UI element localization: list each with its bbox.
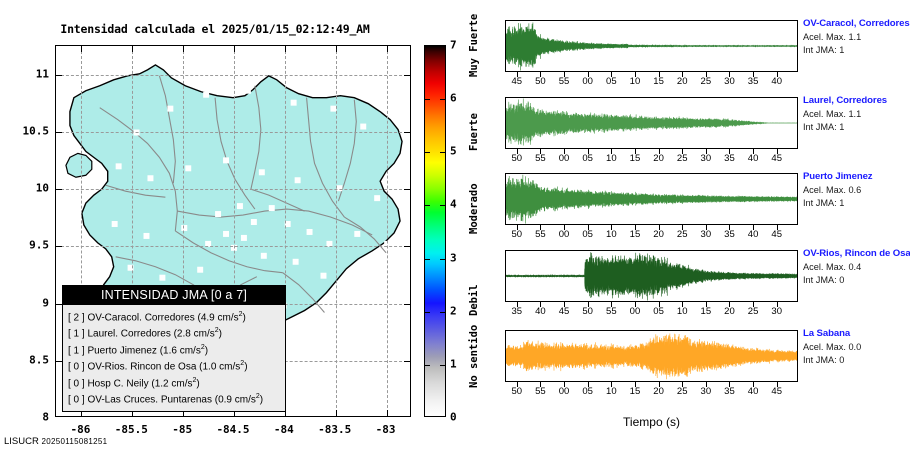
- seismogram-tick-label: 25: [748, 306, 759, 317]
- seismogram-tick-label: 00: [630, 306, 641, 317]
- seismogram-tick-label: 25: [677, 229, 688, 240]
- map-ytick-label: 10.5: [11, 124, 49, 137]
- seismogram-tick-label: 00: [559, 386, 570, 397]
- legend-close-paren: ): [205, 345, 208, 356]
- seismogram-tick-label: 25: [677, 386, 688, 397]
- map-ytick: [404, 361, 410, 362]
- legend-close-paren: ): [243, 312, 246, 323]
- seismogram-tick-label: 05: [582, 386, 593, 397]
- intensity-legend: INTENSIDAD JMA [0 a 7] [ 2 ] OV-Caracol.…: [62, 285, 286, 412]
- seismogram-tick-label: 35: [724, 386, 735, 397]
- seismogram-tick-label: 40: [748, 386, 759, 397]
- seismogram-tick-label: 50: [582, 306, 593, 317]
- map-xtick: [387, 46, 388, 52]
- map-xtick-label: -86: [70, 423, 90, 436]
- int-jma-value: Int JMA: 1: [803, 122, 910, 132]
- seismogram-tick-label: 55: [535, 386, 546, 397]
- seismogram-tick-label: 30: [701, 386, 712, 397]
- colorbar-tick: [425, 259, 430, 260]
- seismogram-tick-label: 10: [606, 386, 617, 397]
- legend-level: [ 1 ]: [68, 345, 87, 356]
- map-ytick: [56, 246, 62, 247]
- int-jma-value: Int JMA: 1: [803, 45, 910, 55]
- colorbar-tick: [440, 259, 445, 260]
- colorbar-tick-label: 7: [450, 39, 457, 52]
- seismogram-tick-label: 15: [701, 306, 712, 317]
- map-xtick-label: -84.5: [216, 423, 249, 436]
- seismogram-tick-label: 45: [559, 306, 570, 317]
- seismogram-tick-label: 30: [701, 229, 712, 240]
- int-jma-value: Int JMA: 0: [803, 355, 910, 365]
- seismogram-tick-label: 25: [677, 153, 688, 164]
- map-ytick: [404, 132, 410, 133]
- map-ytick: [56, 132, 62, 133]
- colorbar-tick: [425, 205, 430, 206]
- seismogram-info-1: OV-Caracol, CorredoresAcel. Max. 1.1Int …: [803, 18, 910, 55]
- legend-station: Hosp C. Neily (1.2 cm/s: [87, 378, 192, 389]
- legend-close-paren: ): [260, 395, 263, 406]
- seismogram-trace-2[interactable]: [505, 97, 798, 149]
- map-ytick-label: 8: [11, 411, 49, 424]
- seismogram-tick-label: 20: [724, 306, 735, 317]
- seismogram-tick-label: 55: [559, 76, 570, 87]
- colorbar-tick: [440, 152, 445, 153]
- colorbar-category-label: Moderado: [468, 183, 480, 234]
- seismogram-tick-label: 05: [653, 306, 664, 317]
- map-ytick-label: 9.5: [11, 239, 49, 252]
- seismogram-xaxis-label: Tiempo (s): [505, 415, 798, 429]
- intensity-legend-list: [ 2 ] OV-Caracol. Corredores (4.9 cm/s2)…: [63, 305, 285, 411]
- accel-max-value: Acel. Max. 1.1: [803, 109, 910, 119]
- map-ytick: [404, 304, 410, 305]
- legend-close-paren: ): [244, 362, 247, 373]
- accel-max-value: Acel. Max. 0.4: [803, 262, 910, 272]
- legend-level: [ 0 ]: [68, 378, 87, 389]
- colorbar-tick-label: 1: [450, 357, 457, 370]
- colorbar-tick: [425, 152, 430, 153]
- legend-row: [ 2 ] OV-Caracol. Corredores (4.9 cm/s2): [68, 308, 280, 325]
- map-xtick: [336, 410, 337, 416]
- seismogram-tick-label: 55: [535, 229, 546, 240]
- colorbar-tick-label: 2: [450, 304, 457, 317]
- footer-agency: LISUCR: [4, 436, 39, 447]
- seismogram-tick-label: 35: [724, 229, 735, 240]
- map-xtick: [183, 46, 184, 52]
- map-gridline-horizontal: [56, 75, 411, 76]
- colorbar-tick: [440, 205, 445, 206]
- footer-credit: LISUCR 20250115081251: [4, 436, 107, 447]
- colorbar-tick-label: 0: [450, 411, 457, 424]
- legend-station: OV-Las Cruces. Puntarenas (0.9 cm/s: [87, 395, 255, 406]
- seismogram-tick-label: 50: [512, 386, 523, 397]
- int-jma-value: Int JMA: 0: [803, 275, 910, 285]
- seismogram-tick-label: 15: [630, 153, 641, 164]
- seismogram-tick-label: 10: [677, 306, 688, 317]
- map-xtick: [387, 410, 388, 416]
- seismogram-tick-label: 50: [512, 229, 523, 240]
- seismogram-tick-label: 35: [724, 153, 735, 164]
- colorbar-tick: [440, 365, 445, 366]
- map-ytick-label: 8.5: [11, 353, 49, 366]
- legend-level: [ 0 ]: [68, 395, 87, 406]
- legend-station: OV-Rios. Rincon de Osa (1.0 cm/s: [87, 362, 240, 373]
- map-xtick: [81, 46, 82, 52]
- footer-timestamp: 20250115081251: [41, 437, 107, 446]
- accel-max-value: Acel. Max. 0.6: [803, 185, 910, 195]
- map-xtick-label: -84: [274, 423, 294, 436]
- map-gridline-horizontal: [56, 132, 411, 133]
- legend-row: [ 0 ] Hosp C. Neily (1.2 cm/s2): [68, 374, 280, 391]
- seismogram-tick-label: 15: [630, 229, 641, 240]
- seismogram-tick-label: 50: [535, 76, 546, 87]
- seismogram-tick-label: 55: [535, 153, 546, 164]
- seismogram-xaxis-3: 505500051015202530354045: [505, 225, 798, 241]
- map-xtick-label: -83: [376, 423, 396, 436]
- seismogram-tick-label: 45: [771, 153, 782, 164]
- colorbar-category-label: Fuerte: [468, 113, 480, 151]
- seismogram-tick-label: 40: [771, 76, 782, 87]
- map-ytick: [404, 189, 410, 190]
- colorbar-tick: [440, 312, 445, 313]
- colorbar-tick-label: 6: [450, 92, 457, 105]
- map-ytick: [56, 189, 62, 190]
- legend-row: [ 1 ] Laurel. Corredores (2.8 cm/s2): [68, 324, 280, 341]
- seismogram-info-4: OV-Rios, Rincon de OsaAcel. Max. 0.4Int …: [803, 248, 910, 285]
- colorbar-category-label: Muy Fuerte: [468, 14, 480, 77]
- legend-station: OV-Caracol. Corredores (4.9 cm/s: [87, 312, 238, 323]
- map-ytick: [56, 75, 62, 76]
- seismogram-tick-label: 10: [630, 76, 641, 87]
- seismogram-tick-label: 05: [582, 153, 593, 164]
- seismogram-tick-label: 20: [653, 153, 664, 164]
- colorbar-category-label: No sentido: [468, 325, 480, 388]
- accel-max-value: Acel. Max. 1.1: [803, 32, 910, 42]
- seismogram-tick-label: 05: [582, 229, 593, 240]
- legend-level: [ 1 ]: [68, 329, 87, 340]
- legend-row: [ 0 ] OV-Las Cruces. Puntarenas (0.9 cm/…: [68, 390, 280, 407]
- map-gridline-horizontal: [56, 246, 411, 247]
- seismogram-tick-label: 20: [653, 386, 664, 397]
- station-name-label[interactable]: OV-Rios, Rincon de Osa: [803, 248, 910, 259]
- colorbar-tick-label: 4: [450, 198, 457, 211]
- colorbar-tick: [425, 312, 430, 313]
- seismogram-tick-label: 20: [653, 229, 664, 240]
- seismogram-tick-label: 45: [771, 229, 782, 240]
- seismogram-xaxis-2: 505500051015202530354045: [505, 149, 798, 165]
- colorbar-category-label: Debil: [468, 284, 480, 316]
- seismogram-trace-5[interactable]: [505, 330, 798, 382]
- legend-station: Laurel. Corredores (2.8 cm/s: [87, 329, 214, 340]
- seismogram-tick-label: 15: [630, 386, 641, 397]
- seismogram-tick-label: 50: [512, 153, 523, 164]
- seismogram-tick-label: 30: [724, 76, 735, 87]
- seismogram-tick-label: 40: [535, 306, 546, 317]
- seismogram-tick-label: 45: [512, 76, 523, 87]
- seismogram-tick-label: 20: [677, 76, 688, 87]
- seismogram-tick-label: 30: [701, 153, 712, 164]
- seismogram-tick-label: 10: [606, 153, 617, 164]
- legend-station: Puerto Jimenez (1.6 cm/s: [87, 345, 200, 356]
- seismogram-tick-label: 00: [559, 229, 570, 240]
- colorbar-tick: [425, 99, 430, 100]
- map-ytick-label: 9: [11, 296, 49, 309]
- seismogram-tick-label: 05: [606, 76, 617, 87]
- legend-close-paren: ): [219, 329, 222, 340]
- legend-level: [ 0 ]: [68, 362, 87, 373]
- seismogram-xaxis-4: 354045505500051015202530: [505, 302, 798, 318]
- colorbar-tick: [425, 365, 430, 366]
- map-xtick: [285, 46, 286, 52]
- seismogram-tick-label: 40: [748, 153, 759, 164]
- seismogram-tick-label: 30: [771, 306, 782, 317]
- legend-row: [ 0 ] OV-Rios. Rincon de Osa (1.0 cm/s2): [68, 357, 280, 374]
- int-jma-value: Int JMA: 1: [803, 198, 910, 208]
- seismogram-xaxis-5: 505500051015202530354045: [505, 382, 798, 398]
- seismogram-tick-label: 15: [653, 76, 664, 87]
- colorbar-tick: [440, 99, 445, 100]
- seismogram-tick-label: 25: [701, 76, 712, 87]
- page-title: Intensidad calculada el 2025/01/15_02:12…: [0, 22, 430, 36]
- map-ytick: [404, 246, 410, 247]
- seismogram-tick-label: 00: [582, 76, 593, 87]
- seismogram-info-2: Laurel, CorredoresAcel. Max. 1.1Int JMA:…: [803, 95, 910, 132]
- map-xtick-label: -85: [172, 423, 192, 436]
- legend-row: [ 1 ] Puerto Jimenez (1.6 cm/s2): [68, 341, 280, 358]
- accel-max-value: Acel. Max. 0.0: [803, 342, 910, 352]
- map-xtick: [336, 46, 337, 52]
- seismogram-tick-label: 10: [606, 229, 617, 240]
- intensity-colorbar: [424, 45, 446, 417]
- seismogram-trace-1[interactable]: [505, 20, 798, 72]
- seismogram-tick-label: 35: [748, 76, 759, 87]
- station-name-label[interactable]: Puerto Jimenez: [803, 171, 910, 182]
- map-gridline-horizontal: [56, 189, 411, 190]
- seismogram-tick-label: 00: [559, 153, 570, 164]
- seismogram-trace-3[interactable]: [505, 173, 798, 225]
- station-name-label[interactable]: Laurel, Corredores: [803, 95, 910, 106]
- map-ytick: [404, 75, 410, 76]
- seismogram-tick-label: 35: [512, 306, 523, 317]
- seismogram-info-3: Puerto JimenezAcel. Max. 0.6Int JMA: 1: [803, 171, 910, 208]
- map-ytick-label: 11: [11, 67, 49, 80]
- intensity-map-figure: Intensidad calculada el 2025/01/15_02:12…: [0, 0, 500, 460]
- map-plot-area[interactable]: INTENSIDAD JMA [0 a 7] [ 2 ] OV-Caracol.…: [55, 45, 411, 417]
- seismogram-tick-label: 45: [771, 386, 782, 397]
- seismogram-info-5: La SabanaAcel. Max. 0.0Int JMA: 0: [803, 328, 910, 365]
- map-ytick-label: 10: [11, 182, 49, 195]
- station-name-label[interactable]: La Sabana: [803, 328, 910, 339]
- intensity-legend-title: INTENSIDAD JMA [0 a 7]: [63, 286, 285, 305]
- seismogram-trace-4[interactable]: [505, 250, 798, 302]
- map-xtick-label: -85.5: [115, 423, 148, 436]
- colorbar-tick-label: 5: [450, 145, 457, 158]
- seismogram-tick-label: 55: [606, 306, 617, 317]
- seismogram-figure: Tiempo (s) 455055000510152025303540OV-Ca…: [500, 0, 910, 460]
- colorbar-tick-label: 3: [450, 251, 457, 264]
- map-xtick: [132, 46, 133, 52]
- map-xtick-label: -83.5: [318, 423, 351, 436]
- seismogram-xaxis-1: 455055000510152025303540: [505, 72, 798, 88]
- map-xtick: [234, 46, 235, 52]
- legend-close-paren: ): [196, 378, 199, 389]
- seismogram-tick-label: 40: [748, 229, 759, 240]
- legend-level: [ 2 ]: [68, 312, 87, 323]
- station-name-label[interactable]: OV-Caracol, Corredores: [803, 18, 910, 29]
